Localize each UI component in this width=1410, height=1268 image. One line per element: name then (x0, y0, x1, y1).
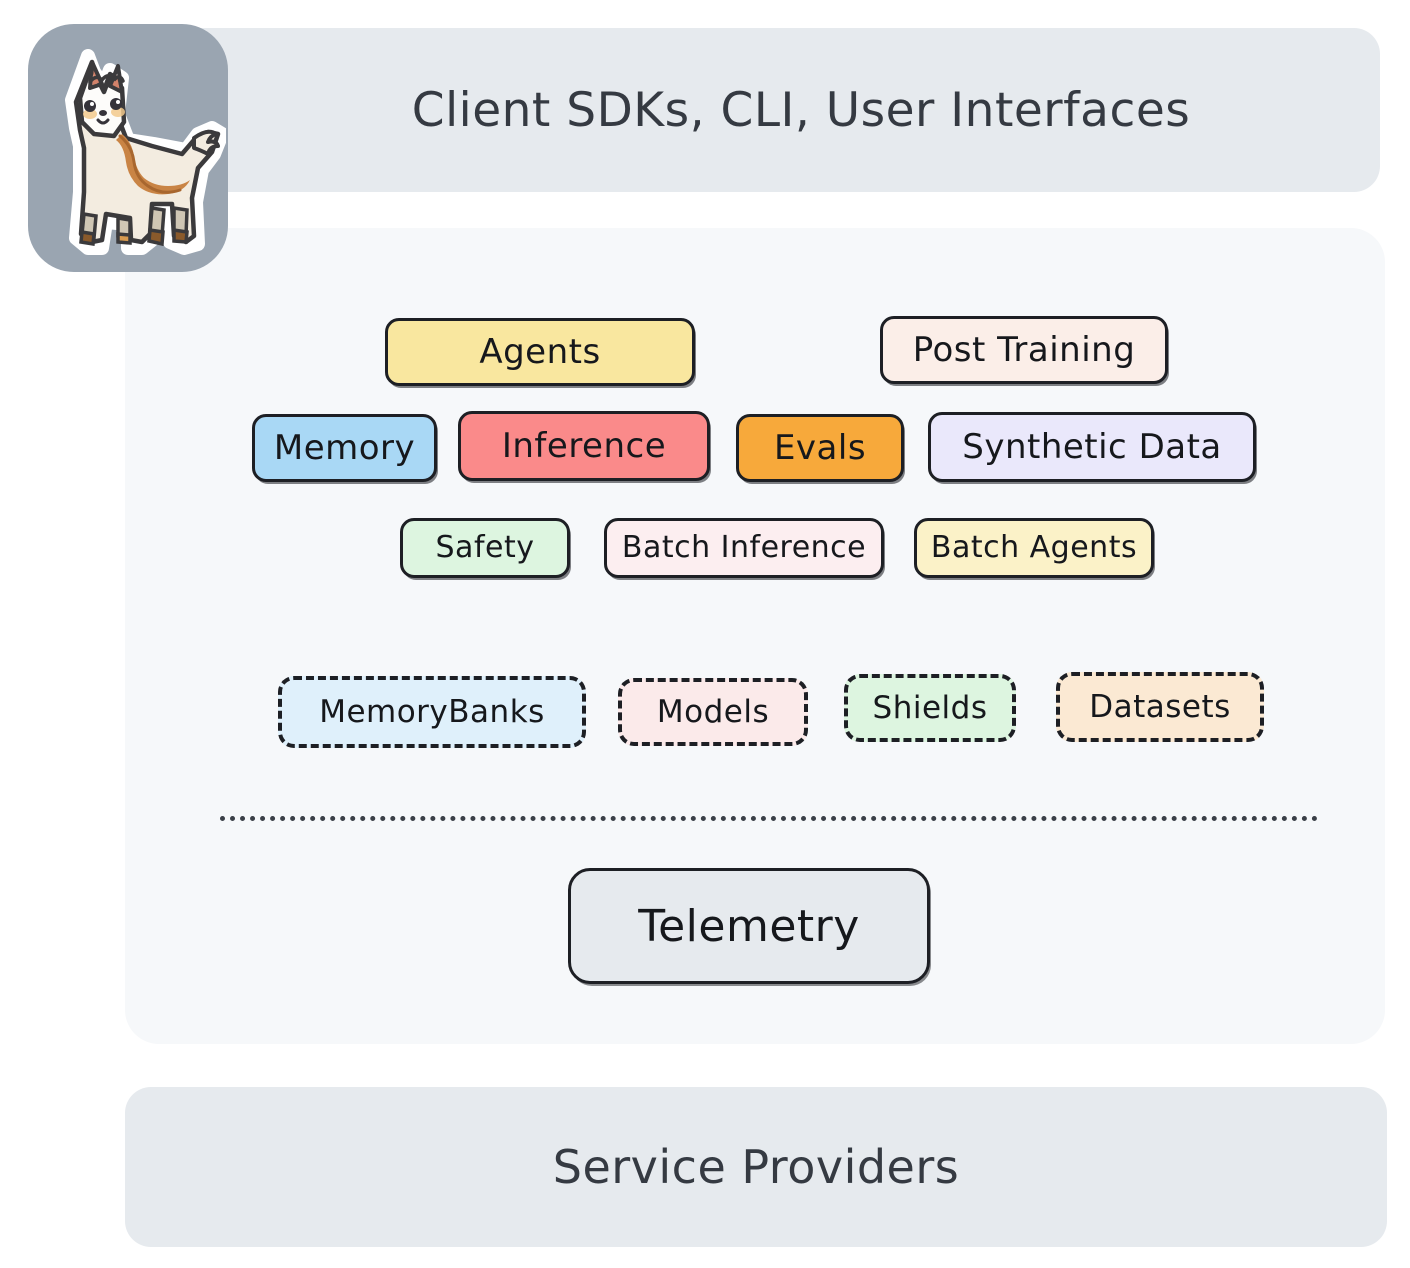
resource-box-datasets[interactable]: Datasets (1056, 672, 1264, 742)
resource-box-memory-banks[interactable]: MemoryBanks (278, 676, 586, 748)
api-box-agents[interactable]: Agents (385, 318, 695, 386)
api-box-batch-agents[interactable]: Batch Agents (914, 518, 1154, 578)
api-box-post-training[interactable]: Post Training (880, 316, 1168, 384)
api-box-label: Batch Agents (931, 533, 1137, 563)
api-box-label: Inference (502, 429, 666, 463)
resource-box-label: Datasets (1089, 692, 1231, 723)
api-box-label: Batch Inference (622, 533, 866, 563)
api-box-inference[interactable]: Inference (458, 411, 710, 481)
resource-box-label: Models (657, 697, 769, 728)
resource-box-shields[interactable]: Shields (844, 674, 1016, 742)
telemetry-label: Telemetry (638, 901, 860, 952)
resource-box-models[interactable]: Models (618, 678, 808, 746)
api-box-label: Evals (774, 431, 866, 465)
client-layer-label: Client SDKs, CLI, User Interfaces (342, 83, 1190, 138)
resource-box-label: Shields (873, 693, 988, 724)
api-box-label: Post Training (913, 333, 1136, 367)
resource-box-label: MemoryBanks (319, 697, 545, 728)
api-box-safety[interactable]: Safety (400, 518, 570, 578)
api-box-label: Memory (274, 431, 415, 465)
client-layer-banner: Client SDKs, CLI, User Interfaces (152, 28, 1380, 192)
service-providers-banner: Service Providers (125, 1087, 1387, 1247)
diagram-canvas: Client SDKs, CLI, User Interfaces (0, 0, 1410, 1268)
telemetry-box[interactable]: Telemetry (568, 868, 930, 984)
api-box-evals[interactable]: Evals (736, 414, 904, 482)
api-box-label: Agents (479, 335, 600, 369)
api-box-synthetic-data[interactable]: Synthetic Data (928, 412, 1256, 482)
api-box-label: Safety (436, 533, 535, 563)
api-box-batch-inference[interactable]: Batch Inference (604, 518, 884, 578)
api-box-memory[interactable]: Memory (252, 414, 437, 482)
api-box-label: Synthetic Data (962, 430, 1222, 464)
section-divider (220, 816, 1318, 821)
llama-logo-badge (28, 24, 228, 272)
service-providers-label: Service Providers (553, 1140, 960, 1194)
llama-logo-icon (36, 42, 226, 262)
